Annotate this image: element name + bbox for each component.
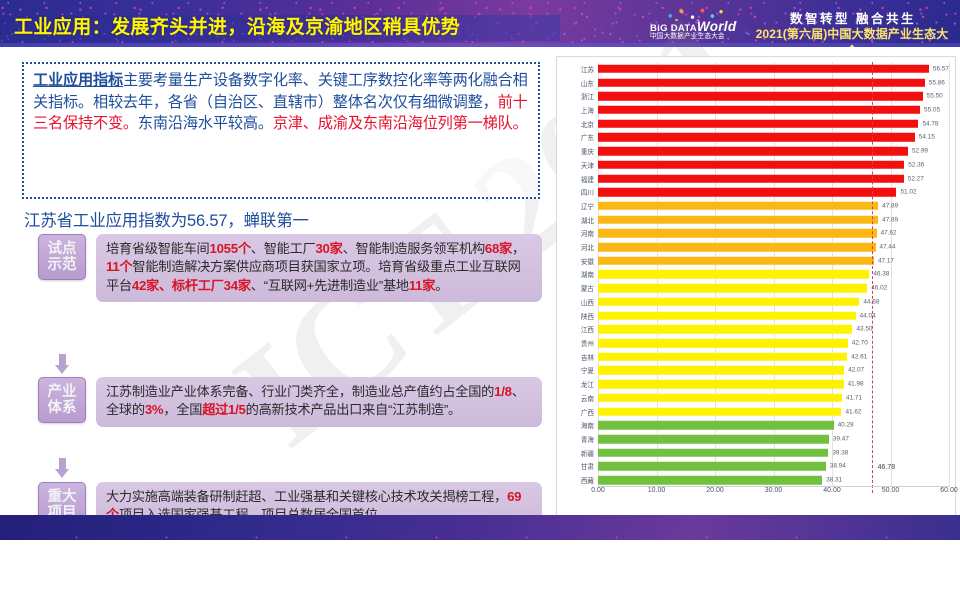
bar-江西 (598, 325, 852, 334)
chart-bar-row: 上海55.05 (598, 103, 949, 117)
bar-新疆 (598, 448, 828, 457)
bar-value-label: 52.27 (908, 175, 924, 182)
bar-龙江 (598, 380, 844, 389)
bar-value-label: 42.70 (852, 340, 868, 347)
bar-category-label: 湖北 (581, 215, 594, 225)
text-run-0: 江苏制造业产业体系完备、行业门类齐全，制造业总产值约占全国的 (106, 384, 494, 399)
bar-北京 (598, 119, 918, 128)
bar-西藏 (598, 476, 822, 485)
chart-bar-row: 青海39.47 (598, 432, 949, 446)
chart-bar-row: 重庆52.99 (598, 144, 949, 158)
bar-四川 (598, 188, 896, 197)
bar-value-label: 52.36 (908, 161, 924, 168)
bar-山东 (598, 78, 925, 87)
chart-bar-row: 四川51.02 (598, 185, 949, 199)
text-run-4: 、智能制造服务领军机构 (343, 241, 485, 256)
chart-bar-row: 湖北47.89 (598, 213, 949, 227)
chart-bar-row: 新疆39.38 (598, 446, 949, 460)
bar-value-label: 54.15 (919, 134, 935, 141)
chart-bar-row: 河南47.62 (598, 227, 949, 241)
chart-bar-row: 广东54.15 (598, 131, 949, 145)
bar-value-label: 55.86 (929, 79, 945, 86)
chart-bar-row: 蒙古46.02 (598, 281, 949, 295)
tag-line-1: 产业 (48, 384, 77, 400)
chart-bar-row: 陕西44.04 (598, 309, 949, 323)
bar-浙江 (598, 92, 923, 101)
bar-value-label: 44.04 (860, 312, 876, 319)
bar-category-label: 江苏 (581, 64, 594, 74)
arrow-down-icon (55, 458, 69, 480)
text-run-0: 大力实施高端装备研制赶超、工业强基和关键核心技术攻关揭榜工程， (106, 489, 507, 504)
text-run-9: 42家 (132, 278, 159, 293)
bar-value-label: 41.71 (846, 394, 862, 401)
page-title: 工业应用：发展齐头并进，沿海及京渝地区稍具优势 (14, 12, 460, 39)
bar-蒙古 (598, 284, 867, 293)
bar-category-label: 浙江 (581, 91, 594, 101)
chart-bar-row: 吉林42.61 (598, 350, 949, 364)
chart-bar-row: 甘肃38.94 (598, 460, 949, 474)
bar-湖北 (598, 215, 878, 224)
gridline-60.00 (949, 62, 950, 487)
bar-category-label: 上海 (581, 105, 594, 115)
text-run-13: 11家 (409, 278, 435, 293)
bar-value-label: 38.94 (830, 463, 846, 470)
bar-广东 (598, 133, 915, 142)
bar-category-label: 山东 (581, 78, 594, 88)
chart-bar-row: 天津52.36 (598, 158, 949, 172)
bar-value-label: 51.02 (900, 189, 916, 196)
bar-山西 (598, 298, 859, 307)
chart-bar-row: 北京54.78 (598, 117, 949, 131)
x-tick-50.00: 50.00 (882, 487, 900, 494)
bar-海南 (598, 421, 834, 430)
chart-bar-row: 云南41.71 (598, 391, 949, 405)
bar-category-label: 河北 (581, 242, 594, 252)
bar-value-label: 55.05 (924, 106, 940, 113)
bar-category-label: 宁夏 (581, 365, 594, 375)
bar-河南 (598, 229, 877, 238)
bar-value-label: 47.89 (882, 202, 898, 209)
bar-category-label: 山西 (581, 297, 594, 307)
bar-云南 (598, 394, 842, 403)
bar-value-label: 47.62 (881, 230, 897, 237)
bar-value-label: 56.57 (933, 65, 949, 72)
intro-callout-box: 工业应用指标主要考量生产设备数字化率、关键工序数控化率等两化融合相关指标。相较去… (22, 62, 540, 199)
bar-category-label: 云南 (581, 393, 594, 403)
chart-bar-row: 河北47.44 (598, 240, 949, 254)
row-tag-pilot: 试点 示范 (38, 234, 86, 280)
bar-category-label: 甘肃 (581, 461, 594, 471)
chart-bar-row: 宁夏42.07 (598, 364, 949, 378)
bar-福建 (598, 174, 904, 183)
bar-value-label: 43.50 (856, 326, 872, 333)
row-card-industry-system: 江苏制造业产业体系完备、行业门类齐全，制造业总产值约占全国的1/8、全球的3%，… (96, 377, 542, 427)
bar-category-label: 广西 (581, 407, 594, 417)
bar-category-label: 贵州 (581, 338, 594, 348)
text-run-7: 11个 (106, 259, 132, 274)
chart-bars: 江苏56.57山东55.86浙江55.50上海55.05北京54.78广东54.… (598, 62, 949, 487)
logo-subtitle: 中国大数据产业生态大会 (650, 30, 746, 40)
bar-value-label: 39.38 (832, 449, 848, 456)
bar-value-label: 47.44 (880, 244, 896, 251)
slide-footer-band (0, 515, 960, 540)
chart-bar-row: 西藏38.31 (598, 473, 949, 487)
bar-category-label: 新疆 (581, 448, 594, 458)
x-tick-0.00: 0.00 (591, 487, 605, 494)
bar-重庆 (598, 147, 908, 156)
conference-name: 2021(第六届)中国大数据产业生态大会 (750, 25, 954, 47)
chart-bar-row: 广西41.62 (598, 405, 949, 419)
tag-line-1: 重大 (48, 489, 77, 505)
arrow-down-icon (55, 354, 69, 376)
list-item: 产业 体系 江苏制造业产业体系完备、行业门类齐全，制造业总产值约占全国的1/8、… (38, 377, 542, 427)
chart-bar-row: 江西43.50 (598, 322, 949, 336)
bar-甘肃 (598, 462, 826, 471)
bar-value-label: 52.99 (912, 148, 928, 155)
chart-bar-row: 浙江55.50 (598, 89, 949, 103)
text-run-5: 68家 (485, 241, 512, 256)
bar-value-label: 38.31 (826, 477, 842, 484)
left-content-column: 工业应用指标主要考量生产设备数字化率、关键工序数控化率等两化融合相关指标。相较去… (0, 47, 562, 515)
bar-河北 (598, 243, 876, 252)
chart-bar-row: 安徽47.17 (598, 254, 949, 268)
text-run-1: 1/8 (494, 384, 512, 399)
x-tick-60.00: 60.00 (940, 487, 958, 494)
footer-particle-texture (0, 515, 960, 540)
chart-plot-area: 江苏56.57山东55.86浙江55.50上海55.05北京54.78广东54.… (598, 62, 949, 487)
bar-value-label: 54.78 (922, 120, 938, 127)
text-run-12: 、“互联网+先进制造业”基地 (251, 278, 409, 293)
chart-bar-row: 辽宁47.89 (598, 199, 949, 213)
bar-value-label: 46.02 (871, 285, 887, 292)
bar-category-label: 广东 (581, 132, 594, 142)
tag-line-2: 体系 (48, 400, 77, 416)
intro-paragraph: 工业应用指标主要考量生产设备数字化率、关键工序数控化率等两化融合相关指标。相较去… (33, 70, 529, 135)
bar-category-label: 北京 (581, 119, 594, 129)
x-tick-40.00: 40.00 (823, 487, 841, 494)
bar-category-label: 福建 (581, 174, 594, 184)
text-run-14: 。 (435, 278, 448, 293)
bar-category-label: 河南 (581, 228, 594, 238)
bar-category-label: 海南 (581, 420, 594, 430)
bar-value-label: 47.89 (882, 216, 898, 223)
bar-category-label: 龙江 (581, 379, 594, 389)
bar-value-label: 55.50 (927, 93, 943, 100)
bar-江苏 (598, 65, 929, 74)
intro-term: 工业应用指标 (33, 72, 123, 89)
row-card-pilot: 培育省级智能车间1055个、智能工厂30家、智能制造服务领军机构68家，11个智… (96, 234, 542, 302)
section-subtitle: 江苏省工业应用指数为56.57，蝉联第一 (24, 207, 544, 231)
arrow-head (55, 365, 69, 374)
average-reference-line (872, 62, 873, 493)
bar-陕西 (598, 311, 856, 320)
bar-category-label: 重庆 (581, 146, 594, 156)
chart-bar-row: 福建52.27 (598, 172, 949, 186)
arrow-head (55, 469, 69, 478)
bar-value-label: 42.61 (851, 353, 867, 360)
text-run-11: 34家 (224, 278, 251, 293)
text-run-3: 30家 (315, 241, 342, 256)
chart-x-axis-labels: 0.0010.0020.0030.0040.0050.0060.00 (598, 487, 949, 501)
bar-value-label: 42.07 (848, 367, 864, 374)
text-run-6: 的高新技术产品出口来自“江苏制造”。 (246, 402, 461, 417)
x-tick-30.00: 30.00 (765, 487, 783, 494)
industry-application-index-chart: 江苏56.57山东55.86浙江55.50上海55.05北京54.78广东54.… (556, 56, 956, 516)
bar-category-label: 江西 (581, 324, 594, 334)
row-tag-industry-system: 产业 体系 (38, 377, 86, 423)
text-run-2: 、智能工厂 (251, 241, 316, 256)
bar-value-label: 46.38 (873, 271, 889, 278)
average-value-label: 46.78 (878, 464, 896, 471)
bar-吉林 (598, 352, 847, 361)
chart-inner: 江苏56.57山东55.86浙江55.50上海55.05北京54.78广东54.… (557, 57, 955, 515)
chart-bar-row: 湖南46.38 (598, 268, 949, 282)
bar-value-label: 41.98 (848, 381, 864, 388)
text-run-5: 超过1/5 (202, 402, 245, 417)
intro-body-2: 东南沿海水平较高。 (138, 115, 273, 132)
bar-辽宁 (598, 202, 878, 211)
text-run-3: 3% (145, 402, 164, 417)
bar-贵州 (598, 339, 848, 348)
bar-青海 (598, 435, 829, 444)
bar-安徽 (598, 257, 874, 266)
arrow-stem (59, 458, 66, 469)
chart-bar-row: 山东55.86 (598, 76, 949, 90)
bar-value-label: 41.62 (845, 408, 861, 415)
chart-bar-row: 龙江41.98 (598, 377, 949, 391)
bar-category-label: 青海 (581, 434, 594, 444)
bar-category-label: 陕西 (581, 311, 594, 321)
bar-category-label: 安徽 (581, 256, 594, 266)
bar-宁夏 (598, 366, 844, 375)
branding-block: BiG DATAWorld 中国大数据产业生态大会 数智转型 融合共生 2021… (642, 4, 954, 44)
big-data-world-logo: BiG DATAWorld 中国大数据产业生态大会 (650, 8, 746, 40)
tag-line-2: 示范 (48, 257, 77, 273)
text-run-10: 、标杆工厂 (159, 278, 224, 293)
slide-header-band: 工业应用：发展齐头并进，沿海及京渝地区稍具优势 BiG DATAWorld 中国… (0, 0, 960, 47)
chart-bar-row: 江苏56.57 (598, 62, 949, 76)
chart-bar-row: 山西44.68 (598, 295, 949, 309)
chart-bar-row: 贵州42.70 (598, 336, 949, 350)
bar-category-label: 天津 (581, 160, 594, 170)
text-run-6: ， (512, 241, 525, 256)
tag-line-1: 试点 (48, 241, 77, 257)
bar-value-label: 39.47 (833, 436, 849, 443)
bar-value-label: 40.28 (838, 422, 854, 429)
x-tick-10.00: 10.00 (648, 487, 666, 494)
x-tick-20.00: 20.00 (706, 487, 724, 494)
chart-bar-row: 海南40.28 (598, 418, 949, 432)
bar-category-label: 西藏 (581, 475, 594, 485)
bar-category-label: 湖南 (581, 269, 594, 279)
list-item: 试点 示范 培育省级智能车间1055个、智能工厂30家、智能制造服务领军机构68… (38, 234, 542, 302)
text-run-1: 1055个 (210, 241, 251, 256)
bar-category-label: 蒙古 (581, 283, 594, 293)
intro-highlight-2: 京津、成渝及东南沿海位列第一梯队。 (273, 115, 528, 132)
bar-湖南 (598, 270, 869, 279)
bar-value-label: 47.17 (878, 257, 894, 264)
bar-category-label: 吉林 (581, 352, 594, 362)
text-run-0: 培育省级智能车间 (106, 241, 210, 256)
bar-广西 (598, 407, 841, 416)
bar-category-label: 四川 (581, 187, 594, 197)
text-run-4: ，全国 (163, 402, 202, 417)
bar-category-label: 辽宁 (581, 201, 594, 211)
arrow-stem (59, 354, 66, 365)
bar-天津 (598, 161, 904, 170)
